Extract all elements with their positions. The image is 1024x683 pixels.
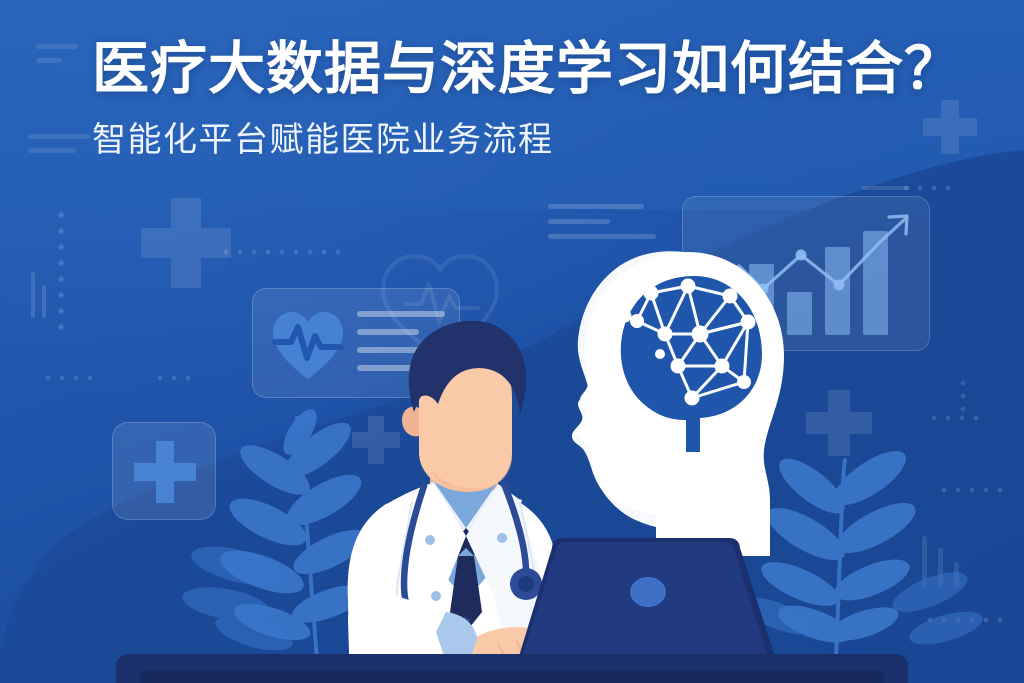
dotted-line-vertical (58, 212, 63, 329)
laptop-lid-inner (522, 542, 768, 658)
page-subtitle: 智能化平台赋能医院业务流程 (92, 120, 992, 161)
lapel-right (498, 484, 560, 683)
chart-title: 数据增长趋势 (683, 357, 684, 358)
data-echo: doctor-illustration laptop ai-head-silho… (0, 0, 1, 1)
headline-block: 医疗大数据与深度学习如何结合？ 智能化平台赋能医院业务流程 (92, 38, 992, 161)
dotted-line-vertical-right (961, 381, 966, 412)
vitals-text-lines (357, 311, 453, 371)
patient-vitals-card (252, 288, 460, 398)
dash-marks-top (28, 44, 90, 153)
plant-left (215, 404, 372, 660)
plant-right-secondary (740, 564, 986, 651)
neck (430, 466, 498, 528)
stethoscope-chestpiece (510, 568, 542, 600)
shirt-front (420, 492, 512, 600)
coat-seams (390, 502, 544, 660)
shirt (434, 474, 498, 528)
poster-canvas: 医疗大数据与深度学习如何结合？ 智能化平台赋能医院业务流程 (0, 0, 1024, 683)
plant-right (756, 441, 923, 660)
arm-left-sleeve (348, 588, 474, 683)
jaw-shadow (432, 452, 512, 492)
doctor-label: doctor-illustration (0, 0, 1, 1)
stethoscope-diaphragm (518, 576, 534, 592)
coat-buttons (425, 533, 507, 601)
stethoscope (404, 484, 526, 640)
laptop-logo (630, 577, 666, 607)
heart-pulse-icon (269, 309, 347, 383)
chart-bars (711, 231, 888, 335)
hand-fingers (498, 640, 550, 676)
text-line-group-right (862, 186, 910, 190)
page-title: 医疗大数据与深度学习如何结合？ (92, 38, 992, 102)
laptop-base (502, 662, 808, 676)
bar-ticks-right (922, 536, 959, 588)
laptop (502, 538, 808, 676)
hand-left (470, 627, 581, 683)
medical-cross-card (112, 422, 216, 520)
lapel-left (348, 484, 434, 683)
plant-left-secondary (180, 539, 296, 658)
stethoscope-earpiece-right (463, 605, 477, 619)
tie-knot (452, 528, 480, 556)
lapel-inner-left (386, 484, 466, 683)
stethoscope-earpiece-left (403, 623, 417, 637)
bar-chart-trend-icon (683, 197, 931, 352)
medical-cross-icon (134, 441, 196, 503)
text-line-group-top (548, 204, 656, 239)
lapel-inner-right (466, 484, 552, 683)
tie-body (450, 556, 482, 632)
coat-collar-left (400, 482, 466, 560)
coat-collar-right (466, 482, 522, 558)
cuff-left (436, 612, 486, 668)
bar-ticks-left (31, 272, 46, 318)
laptop-lid (516, 538, 778, 666)
ear (402, 407, 419, 437)
coat (348, 482, 560, 683)
analytics-growth-card: 数据增长趋势 (682, 196, 930, 351)
